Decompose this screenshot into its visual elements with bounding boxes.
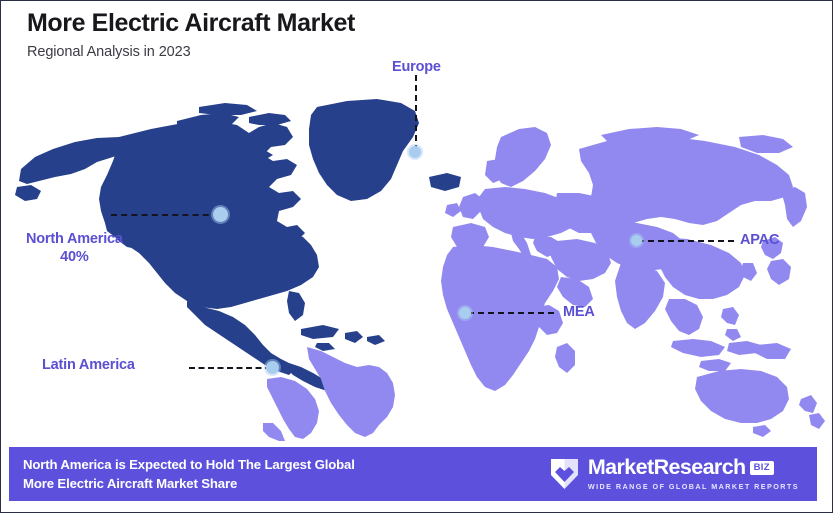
leader-line-north-america (111, 214, 219, 216)
logo-name-row: MarketResearch BIZ (588, 457, 799, 479)
marker-latin-america[interactable] (266, 361, 279, 374)
check-shield-icon (549, 457, 580, 491)
map-label-europe-name: Europe (392, 59, 441, 75)
marker-mea[interactable] (459, 307, 471, 319)
logo-name: MarketResearch (588, 457, 746, 479)
map-label-north-america-value: 40% (26, 248, 123, 266)
banner-text-line-1: North America is Expected to Hold The La… (23, 455, 355, 474)
logo-tagline: WIDE RANGE OF GLOBAL MARKET REPORTS (588, 482, 799, 491)
map-label-north-america-name: North America (26, 231, 123, 247)
map-label-apac[interactable]: APAC (740, 231, 779, 249)
map-label-north-america[interactable]: North America 40% (26, 230, 123, 266)
bottom-banner: North America is Expected to Hold The La… (9, 447, 817, 501)
brand-logo[interactable]: MarketResearch BIZ WIDE RANGE OF GLOBAL … (549, 457, 799, 491)
map-label-apac-name: APAC (740, 232, 779, 248)
marker-north-america[interactable] (213, 207, 228, 222)
map-label-mea[interactable]: MEA (563, 303, 595, 321)
leader-line-latin-america (189, 367, 271, 369)
marker-apac[interactable] (631, 235, 642, 246)
page-title: More Electric Aircraft Market (27, 9, 627, 37)
map-label-europe[interactable]: Europe (392, 58, 441, 76)
map-region-apac[interactable] (551, 127, 825, 437)
marker-europe[interactable] (409, 146, 421, 158)
logo-biz-badge: BIZ (750, 461, 774, 475)
map-label-mea-name: MEA (563, 304, 595, 320)
infographic-canvas: More Electric Aircraft Market Regional A… (0, 0, 833, 513)
banner-text-line-2: More Electric Aircraft Market Share (23, 474, 355, 493)
banner-text: North America is Expected to Hold The La… (23, 455, 355, 493)
logo-text-block: MarketResearch BIZ WIDE RANGE OF GLOBAL … (588, 457, 799, 491)
leader-line-mea (468, 312, 554, 314)
leader-line-europe (415, 75, 417, 151)
world-map-container (1, 41, 833, 441)
map-label-latin-america[interactable]: Latin America (42, 356, 135, 374)
map-label-latin-america-name: Latin America (42, 357, 135, 373)
leader-line-apac (638, 240, 734, 242)
